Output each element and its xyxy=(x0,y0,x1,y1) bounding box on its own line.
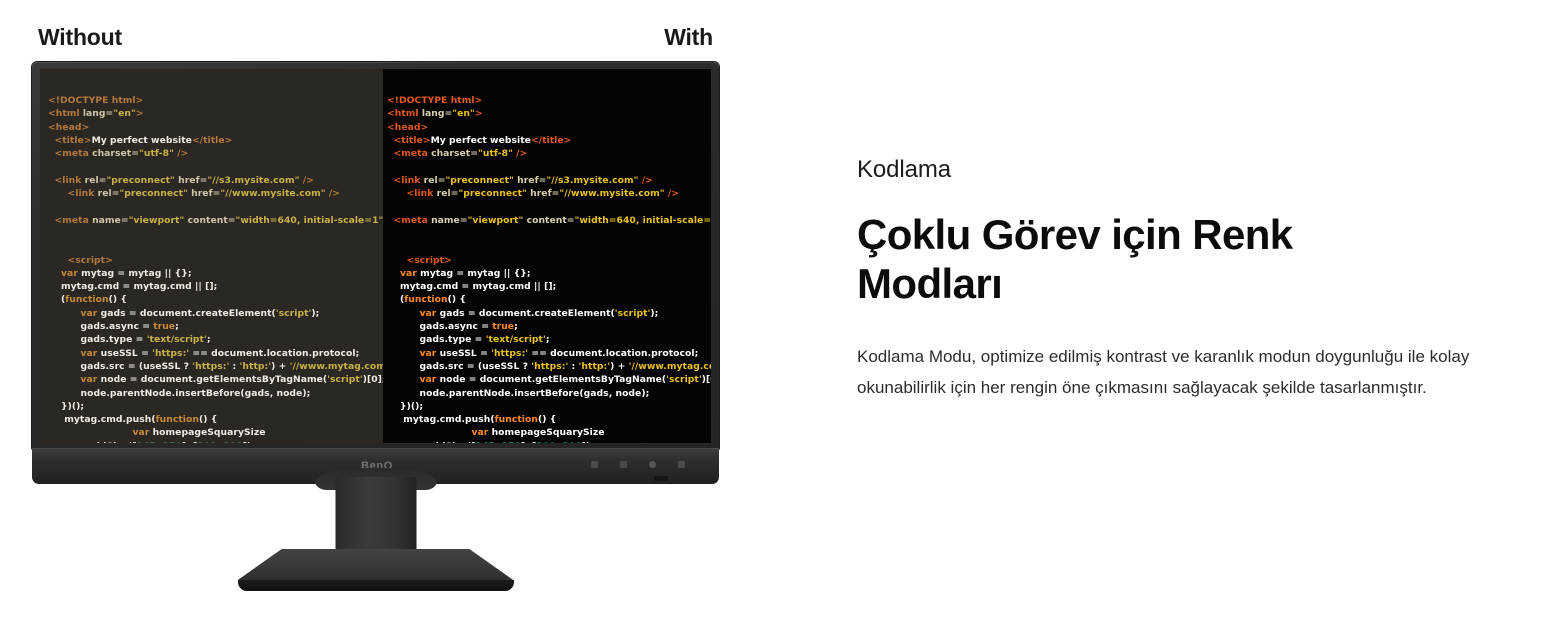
code-token: /> xyxy=(326,188,340,199)
code-line: <meta charset="utf-8" /> xyxy=(48,147,383,160)
code-token: var xyxy=(81,308,98,319)
code-token: : xyxy=(229,361,239,372)
code-line: <link rel="preconnect" href="//s3.mysite… xyxy=(48,174,383,187)
input-button[interactable] xyxy=(620,461,627,468)
code-token: function xyxy=(65,294,108,305)
osd-button-group[interactable] xyxy=(591,461,685,468)
code-token: 'script' xyxy=(327,374,363,385)
code-line: var gads = document.createElement('scrip… xyxy=(387,307,711,320)
code-line: gads.async = true; xyxy=(48,320,383,333)
code-token: "//www.mysite.com" xyxy=(559,188,664,199)
code-line: <!DOCTYPE html> xyxy=(48,94,383,107)
code-token: "preconnect" xyxy=(106,175,174,186)
code-token: '//www.mytag.com/tag.js' xyxy=(629,361,711,372)
code-line: gads.src = (useSSL ? 'https:' : 'http:')… xyxy=(48,360,383,373)
code-token: "en" xyxy=(452,108,475,119)
code-token: "viewport" xyxy=(129,215,185,226)
code-token: "//s3.mysite.com" xyxy=(207,175,299,186)
code-token: var xyxy=(471,427,488,438)
monitor-bezel: <!DOCTYPE html><html lang="en"><head> <t… xyxy=(32,62,719,450)
code-token xyxy=(48,427,132,438)
code-token: 'script' xyxy=(666,374,702,385)
code-line: node.parentNode.insertBefore(gads, node)… xyxy=(48,387,383,400)
code-token: ; xyxy=(175,321,179,332)
code-token: <!DOCTYPE html> xyxy=(387,95,482,106)
code-token: gads.src = (useSSL ? xyxy=(387,361,531,372)
code-token xyxy=(387,427,471,438)
code-token: href= xyxy=(514,175,547,186)
code-line: <!DOCTYPE html> xyxy=(387,94,711,107)
code-token: 945 xyxy=(137,441,156,443)
code-pane-without: <!DOCTYPE html><html lang="en"><head> <t… xyxy=(40,69,383,443)
code-token: name= xyxy=(431,215,468,226)
monitor-stand-neck xyxy=(335,477,416,554)
code-token: gads = document.createElement( xyxy=(97,308,275,319)
code-token xyxy=(387,268,400,279)
code-token xyxy=(48,308,81,319)
code-token: /> xyxy=(174,148,188,159)
code-line: var useSSL = 'https:' == document.locati… xyxy=(48,347,383,360)
code-line xyxy=(48,240,383,253)
code-token: charset= xyxy=(92,148,139,159)
code-token: 200 xyxy=(197,441,216,443)
menu-button[interactable] xyxy=(591,461,598,468)
code-token: var xyxy=(400,268,417,279)
code-token: <head> xyxy=(48,122,89,133)
code-pane-with: <!DOCTYPE html><html lang="en"><head> <t… xyxy=(383,69,711,443)
code-token: <link xyxy=(394,175,424,186)
code-token: href= xyxy=(175,175,208,186)
code-token: function xyxy=(495,414,538,425)
code-token: 'http:' xyxy=(240,361,272,372)
code-token: ); xyxy=(650,308,658,319)
code-token: mytag.cmd = mytag.cmd || []; xyxy=(387,281,556,292)
code-token: ) + xyxy=(610,361,629,372)
code-token: var xyxy=(420,308,437,319)
code-token: "preconnect" xyxy=(458,188,526,199)
code-token: 'https:' xyxy=(152,348,189,359)
code-token xyxy=(387,255,407,266)
code-token: rel= xyxy=(424,175,446,186)
feature-body-text: Kodlama Modu, optimize edilmiş kontrast … xyxy=(857,342,1512,403)
code-line xyxy=(387,227,711,240)
code-token: var xyxy=(81,348,98,359)
code-token: "en" xyxy=(113,108,136,119)
code-token xyxy=(48,188,68,199)
code-token: <head> xyxy=(387,122,428,133)
code-line: var node = document.getElementsByTagName… xyxy=(387,373,711,386)
code-line xyxy=(48,227,383,240)
code-token: ); xyxy=(311,308,319,319)
code-token: 'script' xyxy=(615,308,651,319)
code-token: node.parentNode.insertBefore(gads, node)… xyxy=(48,388,310,399)
code-line: mytag.cmd.push(function() { xyxy=(48,413,383,426)
code-token xyxy=(387,188,407,199)
code-token: href= xyxy=(527,188,560,199)
code-token: == document.location.protocol; xyxy=(189,348,359,359)
code-token: , xyxy=(156,441,163,443)
code-token: mytag = mytag || {}; xyxy=(417,268,531,279)
code-token: ) + xyxy=(271,361,290,372)
code-line: })(); xyxy=(387,400,711,413)
code-line: addSize([945, 250], [200, 200]). xyxy=(387,440,711,443)
code-token: mytag.cmd = mytag.cmd || []; xyxy=(48,281,217,292)
code-line: <link rel="preconnect" href="//www.mysit… xyxy=(48,187,383,200)
code-token: /> xyxy=(300,175,314,186)
code-line: <meta name="viewport" content="width=640… xyxy=(387,214,711,227)
code-line: gads.type = 'text/script'; xyxy=(387,333,711,346)
code-line xyxy=(387,200,711,213)
product-feature-section: Without With <!DOCTYPE html><html lang="… xyxy=(0,0,1554,628)
code-token xyxy=(387,348,420,359)
code-line: mytag.cmd = mytag.cmd || []; xyxy=(387,280,711,293)
code-line: (function() { xyxy=(387,293,711,306)
code-token: </title> xyxy=(192,135,232,146)
code-line xyxy=(387,160,711,173)
code-token: "viewport" xyxy=(468,215,524,226)
code-token: ; xyxy=(207,334,211,345)
code-token: 'text/script' xyxy=(486,334,546,345)
code-token: function xyxy=(156,414,199,425)
code-token xyxy=(48,268,61,279)
code-line xyxy=(387,240,711,253)
code-token: rel= xyxy=(437,188,459,199)
code-line: var gads = document.createElement('scrip… xyxy=(48,307,383,320)
code-token: node = document.getElementsByTagName( xyxy=(436,374,666,385)
code-token: </title> xyxy=(531,135,571,146)
code-token: 200 xyxy=(223,441,242,443)
code-token xyxy=(48,255,68,266)
code-token: var xyxy=(132,427,149,438)
monitor-illustration: <!DOCTYPE html><html lang="en"><head> <t… xyxy=(32,62,719,487)
code-token: addSize([ xyxy=(48,441,137,443)
code-token: content= xyxy=(184,215,235,226)
code-line: gads.type = 'text/script'; xyxy=(48,333,383,346)
code-token: var xyxy=(61,268,78,279)
code-token: /> xyxy=(513,148,527,159)
code-line: addSize([945, 250], [200, 200]). xyxy=(48,440,383,443)
code-line: <html lang="en"> xyxy=(48,107,383,120)
feature-headline: Çoklu Görev için Renk Modları xyxy=(857,211,1397,308)
code-token xyxy=(387,374,420,385)
code-token: var xyxy=(420,348,437,359)
code-token xyxy=(48,374,81,385)
code-line xyxy=(48,160,383,173)
code-token xyxy=(387,308,420,319)
code-line: <script> xyxy=(387,254,711,267)
code-token: var xyxy=(81,374,98,385)
code-token: gads.src = (useSSL ? xyxy=(48,361,192,372)
code-token: name= xyxy=(92,215,129,226)
code-token: 'https:' xyxy=(192,361,229,372)
code-token: "width=640, initial-scale=1" xyxy=(575,215,711,226)
code-token: mytag.cmd.push( xyxy=(387,414,495,425)
code-token: node.parentNode.insertBefore(gads, node)… xyxy=(387,388,649,399)
code-line: <title>My perfect website</title> xyxy=(48,134,383,147)
code-token: gads.async = xyxy=(387,321,492,332)
code-token: "utf-8" xyxy=(139,148,174,159)
code-token: , xyxy=(495,441,502,443)
code-line: <meta name="viewport" content="width=640… xyxy=(48,214,383,227)
code-token: "//s3.mysite.com" xyxy=(546,175,638,186)
code-token: "width=640, initial-scale=1" xyxy=(236,215,383,226)
code-token: > xyxy=(136,108,144,119)
code-line: <head> xyxy=(387,121,711,134)
power-led-indicator xyxy=(654,476,668,481)
code-token: true xyxy=(492,321,514,332)
code-line: (function() { xyxy=(48,293,383,306)
code-token: /> xyxy=(665,188,679,199)
code-line: var useSSL = 'https:' == document.locati… xyxy=(387,347,711,360)
code-token: gads.type = xyxy=(387,334,486,345)
code-token: <link xyxy=(55,175,85,186)
code-token: 200 xyxy=(536,441,555,443)
code-token: My perfect website xyxy=(431,135,531,146)
code-token: rel= xyxy=(98,188,120,199)
code-line: var mytag = mytag || {}; xyxy=(387,267,711,280)
code-token: homepageSquarySize xyxy=(149,427,265,438)
power-button[interactable] xyxy=(678,461,685,468)
code-token: )[0]; xyxy=(363,374,383,385)
code-token: 'https:' xyxy=(531,361,568,372)
code-token: mytag.cmd.push( xyxy=(48,414,156,425)
code-token: <meta xyxy=(394,215,432,226)
code-token: gads = document.createElement( xyxy=(436,308,614,319)
code-token: > xyxy=(475,108,483,119)
code-token: gads.type = xyxy=(48,334,147,345)
code-token: node = document.getElementsByTagName( xyxy=(97,374,327,385)
code-token: () { xyxy=(199,414,217,425)
code-token: homepageSquarySize xyxy=(488,427,604,438)
code-token: true xyxy=(153,321,175,332)
code-token: : xyxy=(568,361,578,372)
code-token: <title> xyxy=(394,135,431,146)
code-token: <link xyxy=(68,188,98,199)
code-token: lang= xyxy=(83,108,113,119)
code-token: '//www.mytag.com/tag.js' xyxy=(290,361,383,372)
code-token: useSSL = xyxy=(436,348,491,359)
code-token: content= xyxy=(523,215,574,226)
comparison-label-with: With xyxy=(608,26,713,49)
code-token: 250 xyxy=(502,441,521,443)
code-token: () { xyxy=(448,294,466,305)
code-token: 250 xyxy=(163,441,182,443)
code-token xyxy=(48,348,81,359)
code-token: })(); xyxy=(387,401,423,412)
code-token: function xyxy=(404,294,447,305)
code-token: gads.async = xyxy=(48,321,153,332)
code-line: mytag.cmd = mytag.cmd || []; xyxy=(48,280,383,293)
code-token: 'text/script' xyxy=(147,334,207,345)
code-token: ; xyxy=(514,321,518,332)
code-line xyxy=(48,200,383,213)
code-token: var xyxy=(420,374,437,385)
code-line: gads.src = (useSSL ? 'https:' : 'http:')… xyxy=(387,360,711,373)
code-line: <title>My perfect website</title> xyxy=(387,134,711,147)
code-token: ( xyxy=(48,294,65,305)
monitor-stand-base-lip xyxy=(238,580,514,591)
code-line: var mytag = mytag || {}; xyxy=(48,267,383,280)
code-block-with: <!DOCTYPE html><html lang="en"><head> <t… xyxy=(387,94,711,443)
code-block-without: <!DOCTYPE html><html lang="en"><head> <t… xyxy=(48,94,383,443)
feature-eyebrow: Kodlama xyxy=(857,155,1517,185)
code-token: <meta xyxy=(55,148,93,159)
code-line: <html lang="en"> xyxy=(387,107,711,120)
code-token: "utf-8" xyxy=(478,148,513,159)
code-line: node.parentNode.insertBefore(gads, node)… xyxy=(387,387,711,400)
code-token: 'https:' xyxy=(491,348,528,359)
code-line: gads.async = true; xyxy=(387,320,711,333)
code-token: <link xyxy=(407,188,437,199)
code-token: <title> xyxy=(55,135,92,146)
code-token: lang= xyxy=(422,108,452,119)
code-token: <meta xyxy=(394,148,432,159)
code-token: () { xyxy=(538,414,556,425)
code-token: <script> xyxy=(68,255,113,266)
code-token: ]). xyxy=(582,441,594,443)
code-token: "//www.mysite.com" xyxy=(220,188,325,199)
code-token: addSize([ xyxy=(387,441,476,443)
code-token: == document.location.protocol; xyxy=(528,348,698,359)
code-token: charset= xyxy=(431,148,478,159)
code-token: /> xyxy=(639,175,653,186)
code-token: ], [ xyxy=(521,441,536,443)
code-token: href= xyxy=(188,188,221,199)
code-token: My perfect website xyxy=(92,135,192,146)
code-token: <!DOCTYPE html> xyxy=(48,95,143,106)
code-line: <link rel="preconnect" href="//s3.mysite… xyxy=(387,174,711,187)
code-line: })(); xyxy=(48,400,383,413)
code-token: 'http:' xyxy=(579,361,611,372)
code-token: <meta xyxy=(55,215,93,226)
comparison-label-without: Without xyxy=(38,26,122,49)
code-line: var node = document.getElementsByTagName… xyxy=(48,373,383,386)
code-token: 200 xyxy=(562,441,581,443)
code-token: )[0]; xyxy=(702,374,711,385)
code-token: mytag = mytag || {}; xyxy=(78,268,192,279)
code-line: <meta charset="utf-8" /> xyxy=(387,147,711,160)
code-line: <script> xyxy=(48,254,383,267)
code-line: var homepageSquarySize xyxy=(48,426,383,439)
code-line: mytag.cmd.push(function() { xyxy=(387,413,711,426)
mode-button[interactable] xyxy=(649,461,656,468)
code-token: ; xyxy=(546,334,550,345)
code-token: 'script' xyxy=(276,308,312,319)
code-token: "preconnect" xyxy=(119,188,187,199)
monitor-screen: <!DOCTYPE html><html lang="en"><head> <t… xyxy=(40,69,711,443)
code-token: })(); xyxy=(48,401,84,412)
code-token: () { xyxy=(109,294,127,305)
code-token: ], [ xyxy=(182,441,197,443)
code-line: var homepageSquarySize xyxy=(387,426,711,439)
code-token: <script> xyxy=(407,255,452,266)
code-line: <head> xyxy=(48,121,383,134)
code-token: 945 xyxy=(476,441,495,443)
code-token: "preconnect" xyxy=(445,175,513,186)
code-token: useSSL = xyxy=(97,348,152,359)
code-line: <link rel="preconnect" href="//www.mysit… xyxy=(387,187,711,200)
code-token: rel= xyxy=(85,175,107,186)
code-token: <html xyxy=(48,108,83,119)
code-token: <html xyxy=(387,108,422,119)
code-token: ]). xyxy=(243,441,255,443)
feature-text-column: Kodlama Çoklu Görev için Renk Modları Ko… xyxy=(857,155,1517,403)
code-token: ( xyxy=(387,294,404,305)
